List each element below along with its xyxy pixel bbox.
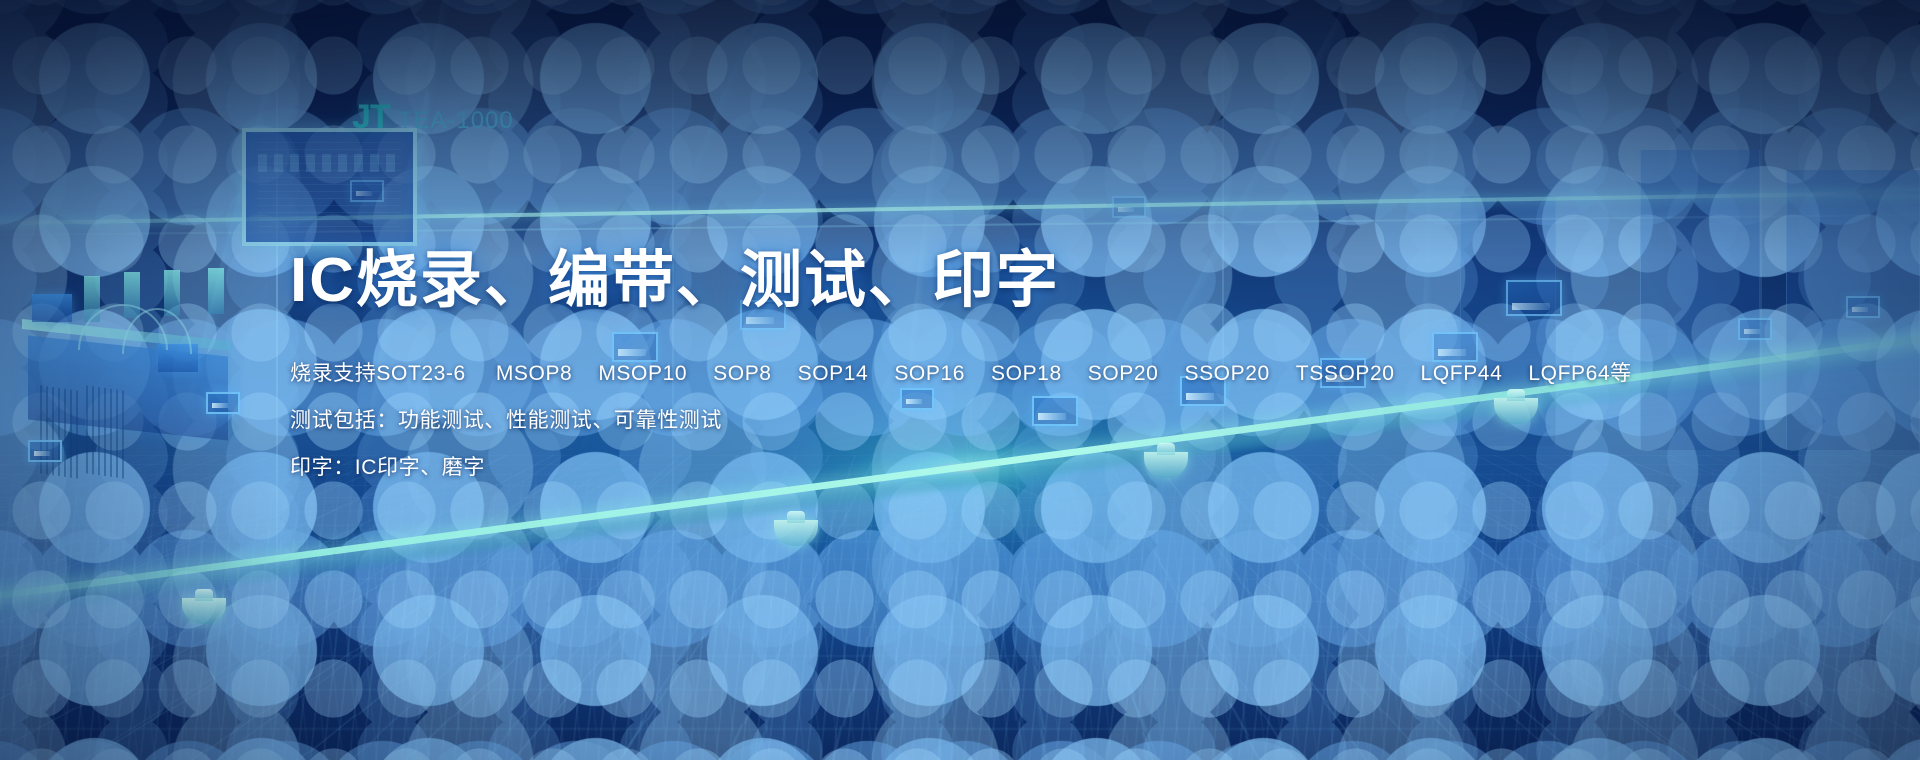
package-sop18: SOP18 xyxy=(991,362,1062,386)
marking-scope-line: 印字：IC印字、磨字 xyxy=(290,451,1630,481)
floating-chip-icon xyxy=(1112,196,1146,218)
testing-scope-line: 测试包括：功能测试、性能测试、可靠性测试 xyxy=(290,404,1630,434)
page-title: IC烧录、编带、测试、印字 xyxy=(290,248,1630,315)
package-sop8: SOP8 xyxy=(713,362,771,386)
floating-chip-icon xyxy=(206,392,240,414)
package-ssop20: SSOP20 xyxy=(1184,362,1269,386)
glow-pillar xyxy=(276,0,278,760)
floating-chip-icon xyxy=(1738,318,1772,340)
package-msop8: MSOP8 xyxy=(496,362,573,386)
production-machine-graphic xyxy=(18,268,248,448)
package-msop10: MSOP10 xyxy=(598,362,687,386)
burn-support-label: 烧录支持SOT23-6 xyxy=(290,357,466,387)
package-lqfp44: LQFP44 xyxy=(1421,362,1503,386)
machine-logo: JT TEA-1000 xyxy=(352,98,514,137)
logo-model-text: TEA-1000 xyxy=(398,107,514,135)
monitor-graphic xyxy=(242,128,417,246)
package-lqfp64: LQFP64等 xyxy=(1528,357,1631,387)
floating-chip-icon xyxy=(350,180,384,202)
floating-chip-icon xyxy=(28,440,62,462)
hero-banner: JT TEA-1000 IC烧录、编带、测试、印字 烧录支持SOT23-6 MS… xyxy=(0,0,1920,760)
package-sop20: SOP20 xyxy=(1088,362,1159,386)
burn-support-line: 烧录支持SOT23-6 MSOP8 MSOP10 SOP8 SOP14 SOP1… xyxy=(290,357,1630,387)
package-sop16: SOP16 xyxy=(894,362,965,386)
banner-detail-lines: 烧录支持SOT23-6 MSOP8 MSOP10 SOP8 SOP14 SOP1… xyxy=(290,357,1630,481)
logo-mark-text: JT xyxy=(352,98,390,137)
floating-chip-icon xyxy=(1846,296,1880,318)
package-sop14: SOP14 xyxy=(798,362,869,386)
banner-content: IC烧录、编带、测试、印字 烧录支持SOT23-6 MSOP8 MSOP10 S… xyxy=(290,248,1630,481)
package-tssop20: TSSOP20 xyxy=(1296,362,1395,386)
